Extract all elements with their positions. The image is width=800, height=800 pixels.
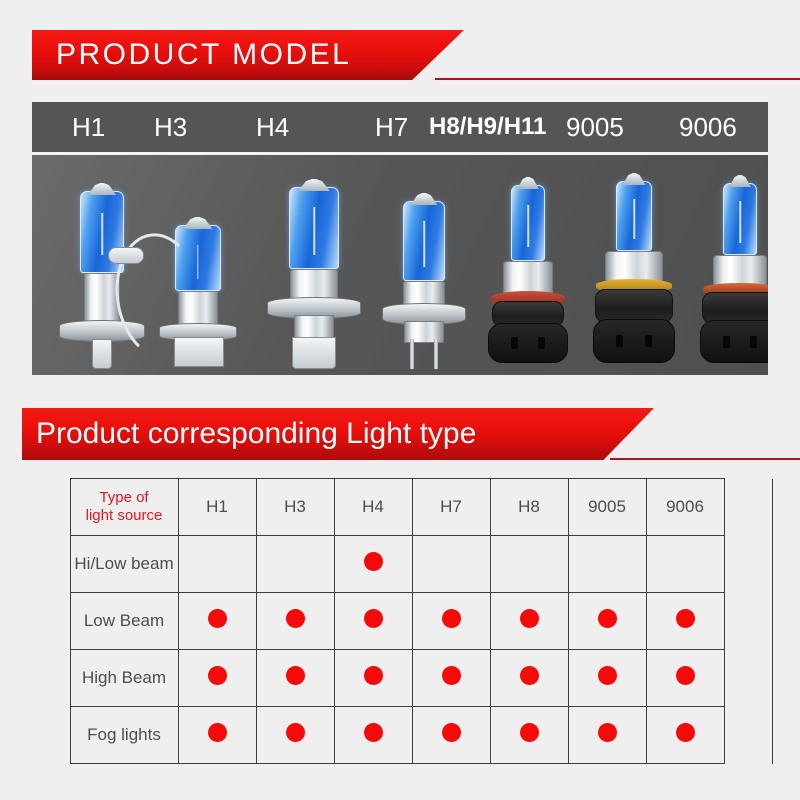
light-type-compatibility-table: Type of light source H1 H3 H4 H7 H8 9005…	[22, 478, 773, 764]
cell-fog-lights-h8	[490, 707, 568, 764]
supported-dot-icon	[676, 723, 695, 742]
row-label-high-beam: High Beam	[70, 650, 178, 707]
row-label-fog-lights: Fog lights	[70, 707, 178, 764]
right-spacer-cell	[724, 479, 772, 536]
cell-hi-low-beam-h1	[178, 536, 256, 593]
model-label-h1: H1	[72, 112, 105, 143]
model-label-h4: H4	[256, 112, 289, 143]
cell-high-beam-h4	[334, 650, 412, 707]
h7-halogen-bulb	[380, 183, 468, 369]
left-spacer-cell	[22, 479, 70, 536]
h3-wire-terminal	[108, 247, 144, 264]
supported-dot-icon	[364, 552, 383, 571]
supported-dot-icon	[286, 609, 305, 628]
bulb-photo-row	[32, 155, 768, 375]
row-label-low-beam: Low Beam	[70, 593, 178, 650]
cell-high-beam-h8	[490, 650, 568, 707]
type-of-light-source-header: Type of light source	[70, 479, 178, 536]
supported-dot-icon	[364, 609, 383, 628]
column-header-h7: H7	[412, 479, 490, 536]
cell-fog-lights-h4	[334, 707, 412, 764]
9005-plug-pin-left	[616, 335, 623, 347]
type-header-line1: Type of	[99, 489, 148, 506]
supported-dot-icon	[442, 609, 461, 628]
model-label-h7: H7	[375, 112, 408, 143]
cell-high-beam-h1	[178, 650, 256, 707]
9006-halogen-bulb	[696, 173, 768, 369]
model-label-h3: H3	[154, 112, 187, 143]
model-label-9005: 9005	[566, 112, 624, 143]
9005-filament	[633, 199, 635, 239]
supported-dot-icon	[364, 723, 383, 742]
h4-filament	[313, 207, 315, 255]
product-model-banner-shape: PRODUCT MODEL	[32, 30, 464, 80]
h1-filament	[101, 213, 103, 255]
column-header-h4: H4	[334, 479, 412, 536]
left-spacer-cell	[22, 707, 70, 764]
product-model-banner: PRODUCT MODEL	[0, 30, 800, 80]
column-header-h1: H1	[178, 479, 256, 536]
left-spacer-cell	[22, 593, 70, 650]
cell-low-beam-h7	[412, 593, 490, 650]
h11-plug-pin-left	[511, 337, 518, 349]
h11-connector-plug	[488, 323, 568, 363]
9005-plug-pin-right	[645, 335, 652, 347]
h7-prong-right	[434, 339, 438, 369]
supported-dot-icon	[598, 609, 617, 628]
light-type-banner-underline	[610, 458, 800, 460]
cell-hi-low-beam-h4	[334, 536, 412, 593]
cell-fog-lights-h3	[256, 707, 334, 764]
column-header-h3: H3	[256, 479, 334, 536]
table-row: Fog lights	[22, 707, 772, 764]
column-header-9006: 9006	[646, 479, 724, 536]
9006-connector-plug	[700, 320, 768, 363]
table-body: Hi/Low beamLow BeamHigh BeamFog lights	[22, 536, 772, 764]
supported-dot-icon	[208, 609, 227, 628]
table-row: High Beam	[22, 650, 772, 707]
h11-plug-pin-right	[538, 337, 545, 349]
row-label-hi-low-beam: Hi/Low beam	[70, 536, 178, 593]
supported-dot-icon	[676, 666, 695, 685]
h1-connector-tab	[92, 339, 112, 369]
supported-dot-icon	[208, 666, 227, 685]
h7-prong-left	[410, 339, 414, 369]
supported-dot-icon	[598, 666, 617, 685]
9005-connector-plug	[593, 319, 675, 363]
h11-filament	[527, 205, 529, 247]
column-header-h8: H8	[490, 479, 568, 536]
light-type-banner-shape: Product corresponding Light type	[22, 408, 654, 460]
supported-dot-icon	[520, 609, 539, 628]
cell-low-beam-9005	[568, 593, 646, 650]
9006-plug-pin-right	[750, 336, 757, 348]
cell-low-beam-h4	[334, 593, 412, 650]
9006-filament	[739, 201, 741, 243]
cell-hi-low-beam-h8	[490, 536, 568, 593]
left-spacer-cell	[22, 536, 70, 593]
cell-hi-low-beam-9005	[568, 536, 646, 593]
h3-halogen-bulb	[152, 197, 256, 369]
supported-dot-icon	[286, 666, 305, 685]
cell-high-beam-h3	[256, 650, 334, 707]
product-model-title: PRODUCT MODEL	[56, 38, 351, 72]
h7-filament	[423, 221, 425, 267]
cell-fog-lights-9005	[568, 707, 646, 764]
9005-black-socket	[595, 289, 673, 323]
supported-dot-icon	[208, 723, 227, 742]
cell-low-beam-h1	[178, 593, 256, 650]
cell-low-beam-9006	[646, 593, 724, 650]
cell-hi-low-beam-9006	[646, 536, 724, 593]
supported-dot-icon	[676, 609, 695, 628]
table-header-row: Type of light source H1 H3 H4 H7 H8 9005…	[22, 479, 772, 536]
light-type-title: Product corresponding Light type	[36, 417, 476, 451]
h4-halogen-bulb	[264, 173, 364, 369]
right-spacer-cell	[724, 707, 772, 764]
right-spacer-cell	[724, 593, 772, 650]
product-model-banner-underline	[435, 78, 800, 80]
supported-dot-icon	[364, 666, 383, 685]
supported-dot-icon	[286, 723, 305, 742]
light-type-banner: Product corresponding Light type	[0, 408, 800, 460]
supported-dot-icon	[598, 723, 617, 742]
cell-fog-lights-9006	[646, 707, 724, 764]
9005-halogen-bulb	[590, 173, 678, 369]
cell-hi-low-beam-h7	[412, 536, 490, 593]
cell-low-beam-h3	[256, 593, 334, 650]
cell-fog-lights-h7	[412, 707, 490, 764]
column-header-9005: 9005	[568, 479, 646, 536]
h1-chrome-base	[84, 273, 120, 325]
supported-dot-icon	[520, 723, 539, 742]
model-label-9006: 9006	[679, 112, 737, 143]
h4-connector-tab	[292, 337, 336, 369]
cell-high-beam-9006	[646, 650, 724, 707]
9006-plug-pin-left	[723, 336, 730, 348]
cell-high-beam-h7	[412, 650, 490, 707]
right-spacer-cell	[724, 650, 772, 707]
cell-hi-low-beam-h3	[256, 536, 334, 593]
cell-high-beam-9005	[568, 650, 646, 707]
h11-halogen-bulb	[484, 173, 572, 369]
supported-dot-icon	[520, 666, 539, 685]
table-row: Low Beam	[22, 593, 772, 650]
left-spacer-cell	[22, 650, 70, 707]
cell-low-beam-h8	[490, 593, 568, 650]
right-spacer-cell	[724, 536, 772, 593]
model-label-h8-h9-h11: H8/H9/H11	[429, 113, 546, 141]
type-header-line2: light source	[86, 507, 163, 524]
supported-dot-icon	[442, 723, 461, 742]
model-label-row: H1 H3 H4 H7 H8/H9/H11 9005 9006	[32, 102, 768, 155]
supported-dot-icon	[442, 666, 461, 685]
product-model-panel: H1 H3 H4 H7 H8/H9/H11 9005 9006	[32, 102, 768, 375]
cell-fog-lights-h1	[178, 707, 256, 764]
table-row: Hi/Low beam	[22, 536, 772, 593]
